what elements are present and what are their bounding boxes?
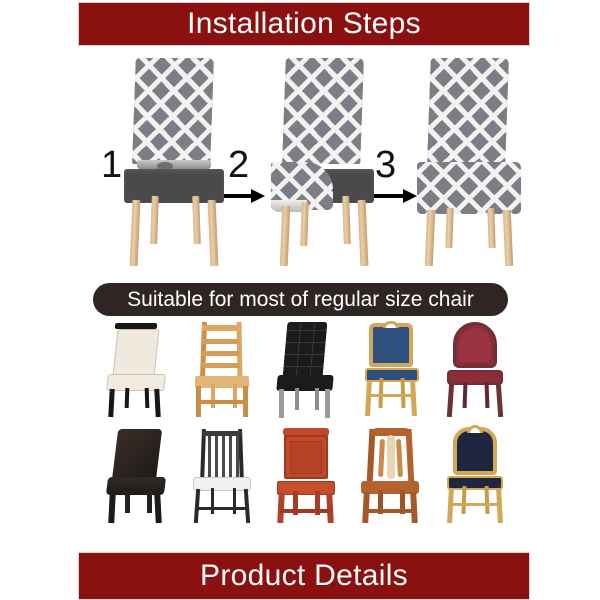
chair-black-tufted-leather: [265, 320, 349, 420]
chair-leg: [208, 200, 219, 266]
infographic-page: Installation Steps 1 2 3: [0, 0, 600, 600]
chair-seat: [124, 169, 224, 203]
chair-leg: [280, 206, 291, 266]
chair-back-cover: [282, 58, 364, 164]
chair-back-cover: [427, 58, 509, 164]
chair-dark-brown-leather: [97, 425, 181, 525]
cover-hem: [137, 160, 211, 169]
chair-leg: [150, 196, 159, 244]
step-2-chair-illustration: [263, 50, 388, 275]
chair-burgundy-round-back: [433, 320, 517, 420]
suitable-chair-label: Suitable for most of regular size chair: [93, 283, 508, 316]
compatible-chairs-grid: [95, 320, 515, 525]
chair-leg: [358, 200, 369, 266]
installation-steps-section: 1 2 3: [0, 50, 600, 275]
chair-back-cover: [132, 58, 214, 164]
chair-medium-wood-splat: [349, 425, 433, 525]
step-3-chair-illustration: [408, 50, 533, 275]
chair-leg: [487, 208, 495, 248]
chair-blue-banquet: [349, 320, 433, 420]
chair-red-wood: [265, 425, 349, 525]
product-details-banner: Product Details: [78, 552, 530, 600]
chair-leg: [342, 196, 351, 244]
chair-light-wood-ladderback: [181, 320, 265, 420]
chair-leg: [192, 196, 201, 244]
chair-leg: [503, 210, 513, 266]
installation-steps-banner: Installation Steps: [78, 2, 530, 46]
suitable-chair-text: Suitable for most of regular size chair: [127, 288, 474, 312]
chair-leg: [425, 210, 435, 266]
chair-leg: [130, 200, 141, 266]
chair-leg: [300, 202, 309, 246]
installation-steps-title: Installation Steps: [187, 7, 421, 41]
chair-navy-banquet: [433, 425, 517, 525]
chair-leg: [445, 208, 453, 248]
chair-seat-cover: [417, 162, 521, 214]
step-1-chair-illustration: [113, 50, 238, 275]
product-details-title: Product Details: [200, 559, 408, 593]
chair-metal-white-seat: [181, 425, 265, 525]
chair-cream-upholstered: [97, 320, 181, 420]
